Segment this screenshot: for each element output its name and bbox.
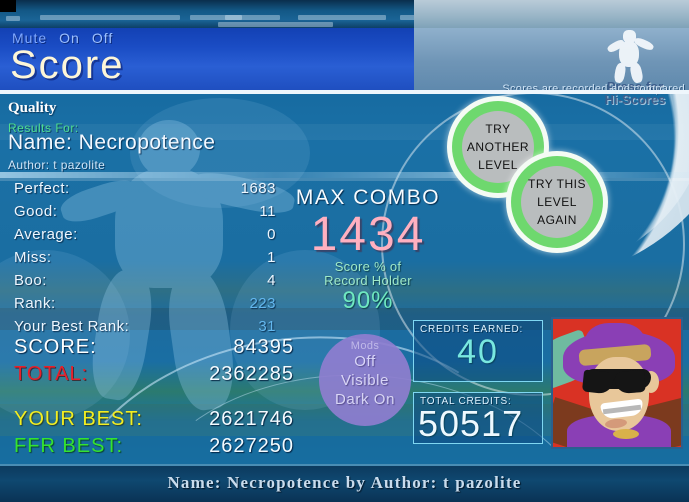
table-row: Rank: 223: [14, 295, 276, 318]
mods-bubble[interactable]: Mods Off Visible Dark On: [319, 334, 411, 426]
pct-label-line2: Record Holder: [278, 274, 458, 288]
stat-value-rank: 223: [249, 295, 276, 312]
stat-label: Boo:: [14, 272, 47, 289]
table-row: Average: 0: [14, 226, 276, 249]
credits-earned-box: CREDITS EARNED: 40: [413, 320, 543, 382]
stat-value: 1683: [241, 180, 276, 197]
song-author: Author: t pazolite: [8, 158, 105, 172]
total-label: TOTAL:: [14, 363, 88, 386]
ffr-best-row: FFR BEST: 2627250: [14, 435, 280, 462]
ghost-bar: [298, 15, 386, 20]
corner-nib: [0, 0, 16, 12]
stat-label: Rank:: [14, 295, 56, 312]
total-credits-box: TOTAL CREDITS: 50517: [413, 392, 543, 444]
table-row: Good: 11: [14, 203, 276, 226]
credits-earned-value: 40: [414, 335, 542, 369]
ghost-bar: [6, 16, 20, 21]
total-row: TOTAL: 2362285: [14, 363, 280, 390]
top-toolbar-strip: [0, 0, 689, 28]
pct-label-line1: Score % of: [278, 260, 458, 274]
stat-value: 1: [267, 249, 276, 266]
try-again-line3: AGAIN: [537, 213, 577, 227]
top-right-pane: [414, 0, 689, 28]
score-screen: Press for Hi-Scores MuteOnOff Score Scor…: [0, 0, 689, 502]
ghost-bar: [225, 15, 280, 20]
max-combo-panel: MAX COMBO 1434 Score % of Record Holder …: [278, 186, 458, 314]
page-title: Score: [10, 46, 125, 84]
mods-item-visible[interactable]: Visible: [319, 371, 411, 390]
score-value: 84395: [164, 336, 294, 359]
stat-value: 11: [259, 203, 276, 220]
stat-value: 0: [267, 226, 276, 243]
try-again-line2: LEVEL: [537, 195, 577, 209]
table-row: Boo: 4: [14, 272, 276, 295]
song-name: Name: Necropotence: [8, 131, 215, 155]
try-again-line1: TRY THIS: [528, 177, 586, 191]
stat-label: Average:: [14, 226, 78, 243]
score-block: SCORE: 84395 TOTAL: 2362285: [14, 336, 280, 390]
stat-value: 4: [267, 272, 276, 289]
table-row: Miss: 1: [14, 249, 276, 272]
footer-text: Name: Necropotence by Author: t pazolite: [0, 473, 689, 493]
best-rank-value: 31: [258, 318, 276, 335]
ffr-best-label: FFR BEST:: [14, 435, 123, 458]
total-value: 2362285: [164, 363, 294, 386]
best-rank-label: Your Best Rank:: [14, 318, 129, 335]
avatar: [551, 317, 683, 449]
best-block: YOUR BEST: 2621746 FFR BEST: 2627250: [14, 408, 280, 462]
stat-label: Good:: [14, 203, 57, 220]
quality-label: Quality: [8, 100, 56, 117]
stats-table: Perfect: 1683 Good: 11 Average: 0 Miss: …: [14, 180, 276, 345]
stat-label: Miss:: [14, 249, 52, 266]
try-another-line3: LEVEL: [478, 158, 518, 172]
pct-value: 90%: [278, 288, 458, 314]
mods-item-off[interactable]: Off: [319, 352, 411, 371]
ghost-bar: [218, 22, 333, 27]
ghost-bar: [40, 15, 180, 20]
your-best-label: YOUR BEST:: [14, 408, 143, 431]
header-divider: [0, 90, 689, 94]
try-another-line1: TRY: [485, 122, 510, 136]
mods-label: Mods: [319, 340, 411, 352]
table-row: Perfect: 1683: [14, 180, 276, 203]
score-row: SCORE: 84395: [14, 336, 280, 363]
your-best-row: YOUR BEST: 2621746: [14, 408, 280, 435]
try-this-level-again-button[interactable]: TRY THIS LEVEL AGAIN: [511, 156, 603, 248]
button-inner: TRY THIS LEVEL AGAIN: [521, 166, 593, 238]
ffr-best-value: 2627250: [144, 435, 294, 458]
try-another-line2: ANOTHER: [467, 140, 529, 154]
total-credits-value: 50517: [414, 407, 542, 441]
stat-label: Perfect:: [14, 180, 70, 197]
mods-item-dark-on[interactable]: Dark On: [319, 390, 411, 409]
your-best-value: 2621746: [144, 408, 294, 431]
footer-bar: Name: Necropotence by Author: t pazolite: [0, 466, 689, 502]
score-label: SCORE:: [14, 336, 97, 359]
max-combo-value: 1434: [278, 210, 458, 260]
dancer-icon: [607, 30, 655, 82]
max-combo-label: MAX COMBO: [278, 186, 458, 210]
